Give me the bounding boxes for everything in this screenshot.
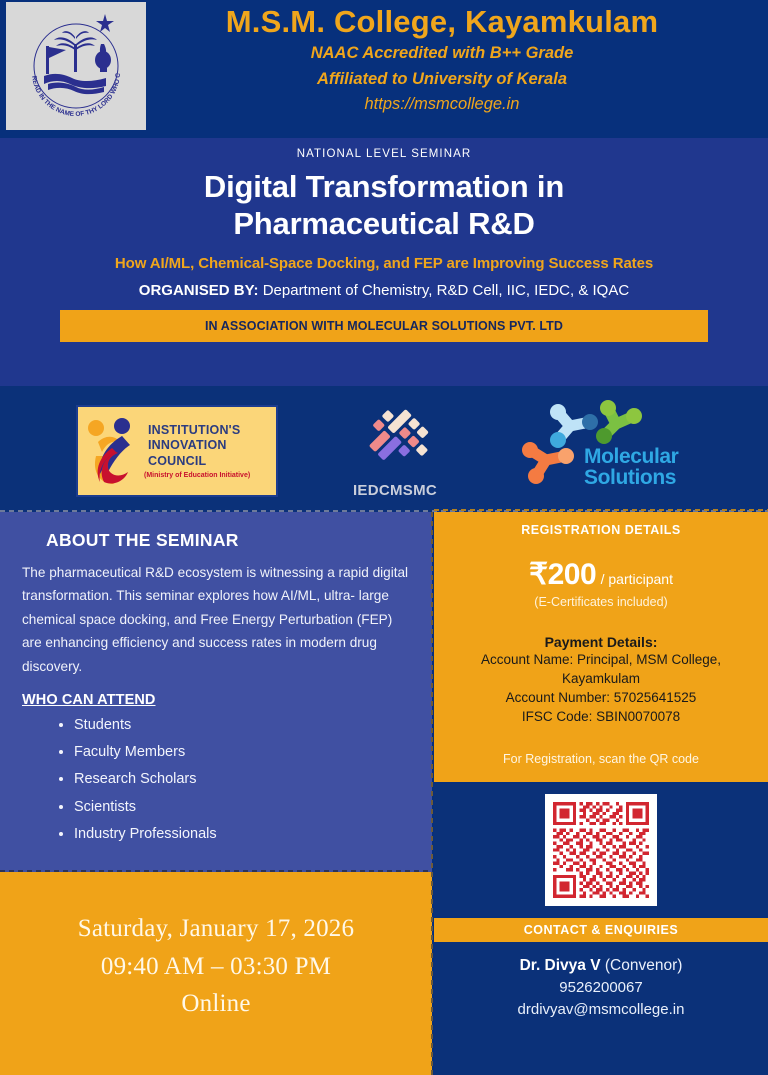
registration-panel: REGISTRATION DETAILS ₹200 / participant … — [434, 512, 768, 782]
registration-fee-note: (E-Certificates included) — [434, 595, 768, 609]
poster-header: READ IN THE NAME OF THY LORD WHO CREATED… — [0, 0, 768, 138]
molecular-solutions-wordmark: Molecular Solutions — [584, 446, 678, 489]
contact-phone[interactable]: 9526200067 — [434, 977, 768, 999]
iic-text-block: INSTITUTION'S INNOVATION COUNCIL (Minist… — [144, 423, 250, 480]
organised-by-label: ORGANISED BY: — [139, 282, 259, 299]
event-mode: Online — [0, 985, 432, 1023]
iedc-emblem-icon — [332, 404, 458, 476]
organised-by-line: ORGANISED BY: Department of Chemistry, R… — [0, 282, 768, 299]
qr-code[interactable] — [545, 794, 657, 906]
ms-line2: Solutions — [584, 467, 678, 488]
list-item: Research Scholars — [74, 766, 410, 793]
organised-by-value: Department of Chemistry, R&D Cell, IIC, … — [263, 282, 629, 299]
seminar-subtitle: How AI/ML, Chemical-Space Docking, and F… — [0, 255, 768, 272]
university-affiliation: Affiliated to University of Kerala — [146, 68, 738, 92]
contact-panel: Dr. Divya V (Convenor) 9526200067 drdivy… — [434, 942, 768, 1075]
seminar-poster: READ IN THE NAME OF THY LORD WHO CREATED… — [0, 0, 768, 1075]
qr-code-panel — [434, 784, 768, 916]
registration-fee: ₹200 — [529, 558, 596, 591]
ifsc-code: IFSC Code: SBIN0070078 — [434, 707, 768, 726]
seminar-title-line2: Pharmaceutical R&D — [0, 205, 768, 242]
about-body-text: The pharmaceutical R&D ecosystem is witn… — [22, 561, 410, 678]
account-number: Account Number: 57025641525 — [434, 688, 768, 707]
registration-heading: REGISTRATION DETAILS — [434, 523, 768, 537]
molecular-solutions-logo: Molecular Solutions — [512, 398, 720, 502]
title-band: NATIONAL LEVEL SEMINAR Digital Transform… — [0, 138, 768, 386]
registration-price-row: ₹200 / participant — [434, 557, 768, 592]
payment-details-heading: Payment Details: — [434, 634, 768, 650]
iic-ministry-note: (Ministry of Education Initiative) — [144, 472, 250, 479]
account-name-line1: Account Name: Principal, MSM College, — [434, 650, 768, 669]
divider-vertical — [431, 512, 433, 1075]
about-seminar-panel: ABOUT THE SEMINAR The pharmaceutical R&D… — [0, 512, 432, 872]
divider-registration-top — [434, 509, 768, 511]
association-bar: IN ASSOCIATION WITH MOLECULAR SOLUTIONS … — [60, 310, 708, 342]
college-website[interactable]: https://msmcollege.in — [146, 93, 738, 117]
list-item: Faculty Members — [74, 739, 410, 766]
ms-line1: Molecular — [584, 446, 678, 467]
seminar-title-line1: Digital Transformation in — [0, 168, 768, 205]
iic-logo: INSTITUTION'S INNOVATION COUNCIL (Minist… — [76, 405, 278, 497]
contact-heading: CONTACT & ENQUIRIES — [434, 918, 768, 942]
date-time-panel: Saturday, January 17, 2026 09:40 AM – 03… — [0, 872, 432, 1075]
contact-person-name: Dr. Divya V — [520, 957, 601, 974]
list-item: Scientists — [74, 794, 410, 821]
iedc-logo: IEDCMSMC — [332, 404, 458, 500]
divider-date-panel-top — [0, 870, 432, 872]
seminar-kicker: NATIONAL LEVEL SEMINAR — [0, 148, 768, 160]
header-text-block: M.S.M. College, Kayamkulam NAAC Accredit… — [146, 0, 768, 117]
iic-line2: INNOVATION — [148, 438, 250, 454]
registration-fee-unit: / participant — [601, 571, 673, 587]
who-can-attend-list: Students Faculty Members Research Schola… — [22, 712, 410, 848]
college-name: M.S.M. College, Kayamkulam — [146, 4, 738, 40]
qr-code-icon[interactable] — [553, 802, 649, 898]
account-name-line2: Kayamkulam — [434, 669, 768, 688]
contact-person-role: (Convenor) — [605, 957, 683, 974]
list-item: Students — [74, 712, 410, 739]
contact-email[interactable]: drdivyav@msmcollege.in — [434, 999, 768, 1021]
list-item: Industry Professionals — [74, 821, 410, 848]
event-date: Saturday, January 17, 2026 — [0, 910, 432, 948]
event-time: 09:40 AM – 03:30 PM — [0, 948, 432, 986]
contact-person-line: Dr. Divya V (Convenor) — [434, 954, 768, 977]
who-can-attend-heading: WHO CAN ATTEND — [22, 692, 410, 708]
iic-line3: COUNCIL — [148, 454, 250, 470]
scan-qr-note: For Registration, scan the QR code — [434, 752, 768, 766]
about-heading: ABOUT THE SEMINAR — [46, 530, 410, 551]
college-logo: READ IN THE NAME OF THY LORD WHO CREATED — [6, 2, 146, 130]
iedc-label: IEDCMSMC — [332, 482, 458, 499]
naac-accreditation: NAAC Accredited with B++ Grade — [146, 42, 738, 66]
college-crest-icon: READ IN THE NAME OF THY LORD WHO CREATED — [6, 2, 146, 130]
iic-emblem-icon — [82, 412, 144, 490]
iic-line1: INSTITUTION'S — [148, 423, 250, 439]
